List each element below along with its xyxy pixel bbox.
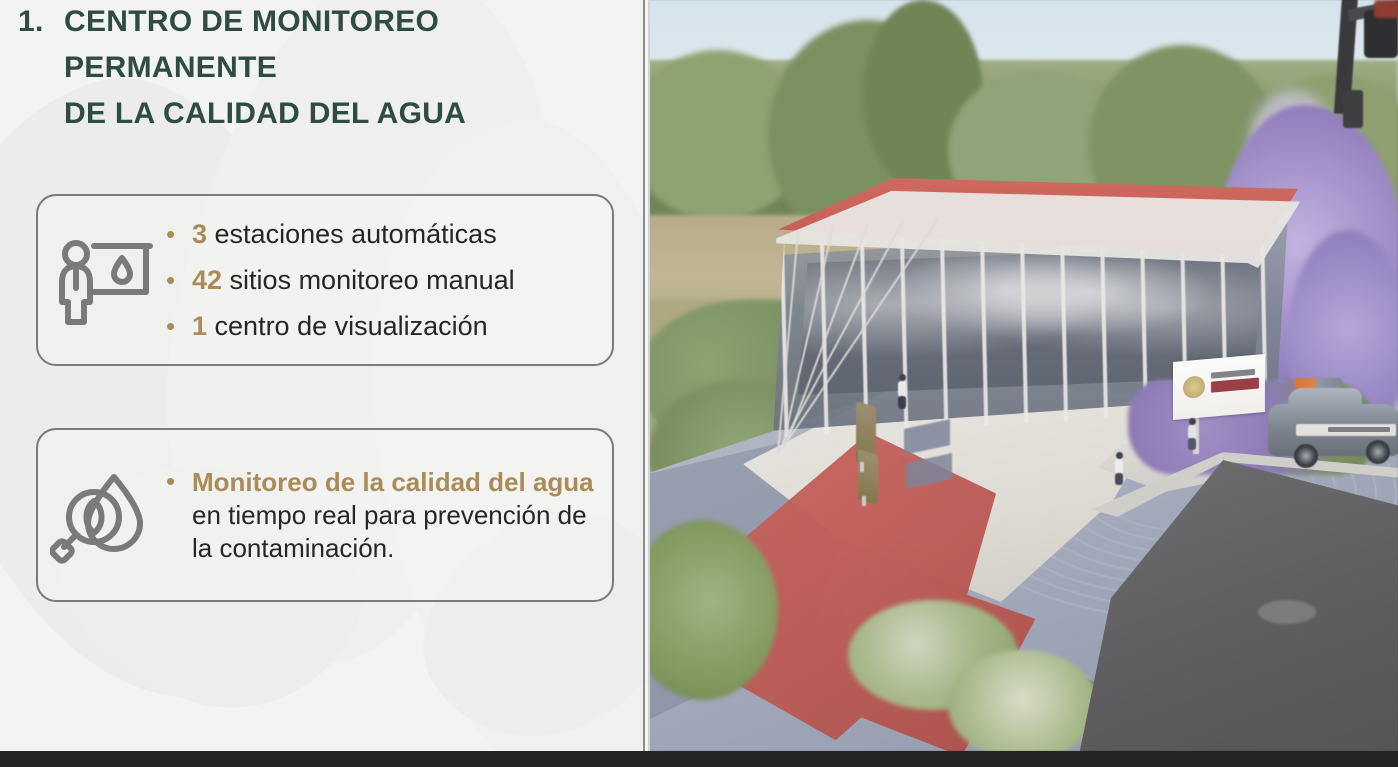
person-head [1116, 452, 1123, 459]
person-legs [1115, 473, 1123, 485]
traffic-signal-housing [1374, 0, 1398, 18]
card-monitoring: • Monitoreo de la calidad del agua en ti… [36, 428, 614, 602]
card-stations-body: • 3 estaciones automáticas • 42 sitios m… [166, 218, 612, 342]
card-monitoring-body: • Monitoreo de la calidad del agua en ti… [166, 466, 612, 565]
person-torso [898, 381, 906, 397]
title-line-2: PERMANENTE [64, 48, 628, 88]
panel-divider [643, 0, 645, 751]
bottom-bar [0, 751, 1398, 767]
background-watermark-shape [0, 30, 446, 749]
bench [858, 449, 878, 505]
national-seal-icon [1183, 375, 1205, 399]
magnifier-water-drop-icon [38, 463, 166, 567]
bullet-label: centro de visualización [207, 311, 488, 341]
gobierno-de-mexico-sign [1173, 354, 1265, 420]
flower-bed [948, 650, 1098, 751]
presenter-water-board-icon [38, 230, 166, 330]
presentation-slide: 1. CENTRO DE MONITOREO PERMANENTE DE LA … [0, 0, 1398, 767]
list-item: • Monitoreo de la calidad del agua en ti… [166, 466, 604, 565]
bench-leg [860, 462, 864, 472]
architectural-render-image [648, 0, 1398, 751]
bullet-marker: • [166, 265, 192, 295]
bullet-text: 42 sitios monitoreo manual [192, 264, 515, 296]
bullet-label: sitios monitoreo manual [222, 265, 515, 295]
vehicle-marking [1328, 427, 1390, 432]
bench-leg [862, 496, 866, 506]
left-content-panel: 1. CENTRO DE MONITOREO PERMANENTE DE LA … [0, 0, 644, 751]
title-lines: CENTRO DE MONITOREO PERMANENTE DE LA CAL… [64, 2, 628, 134]
bullet-number: 42 [192, 265, 222, 295]
sign-text-line [1211, 378, 1259, 393]
person-head [899, 374, 906, 381]
bullet-marker: • [166, 311, 192, 341]
bullet-text: 3 estaciones automáticas [192, 218, 497, 250]
monitoring-rest: en tiempo real para prevención de la con… [192, 500, 587, 563]
vehicle-wheel [1366, 440, 1390, 464]
person-head [1189, 418, 1196, 425]
bullet-label: estaciones automáticas [207, 219, 497, 249]
person-legs [1188, 438, 1196, 450]
list-item: • 3 estaciones automáticas [166, 218, 604, 250]
bullet-marker: • [166, 466, 192, 496]
utility-box [1343, 90, 1363, 128]
vehicle-wheel [1294, 444, 1318, 468]
title-line-3: DE LA CALIDAD DEL AGUA [64, 94, 628, 134]
title-number: 1. [18, 2, 64, 42]
title-first-row: 1. CENTRO DE MONITOREO PERMANENTE DE LA … [18, 2, 628, 134]
bullet-text: 1 centro de visualización [192, 310, 488, 342]
bullet-number: 3 [192, 219, 207, 249]
sign-text-line [1211, 369, 1255, 379]
slide-title: 1. CENTRO DE MONITOREO PERMANENTE DE LA … [18, 2, 628, 134]
monitoring-highlight: Monitoreo de la calidad del agua [192, 467, 594, 497]
list-item: • 42 sitios monitoreo manual [166, 264, 604, 296]
list-item: • 1 centro de visualización [166, 310, 604, 342]
person-torso [1188, 425, 1196, 439]
bullet-number: 1 [192, 311, 207, 341]
bullet-marker: • [166, 219, 192, 249]
card-stations: • 3 estaciones automáticas • 42 sitios m… [36, 194, 614, 366]
person-torso [1115, 459, 1123, 474]
manhole-cover [1258, 600, 1316, 624]
stations-bullet-list: • 3 estaciones automáticas • 42 sitios m… [166, 218, 604, 342]
bullet-text: Monitoreo de la calidad del agua en tiem… [192, 466, 604, 565]
person-legs [898, 396, 906, 409]
title-line-1: CENTRO DE MONITOREO [64, 2, 628, 42]
